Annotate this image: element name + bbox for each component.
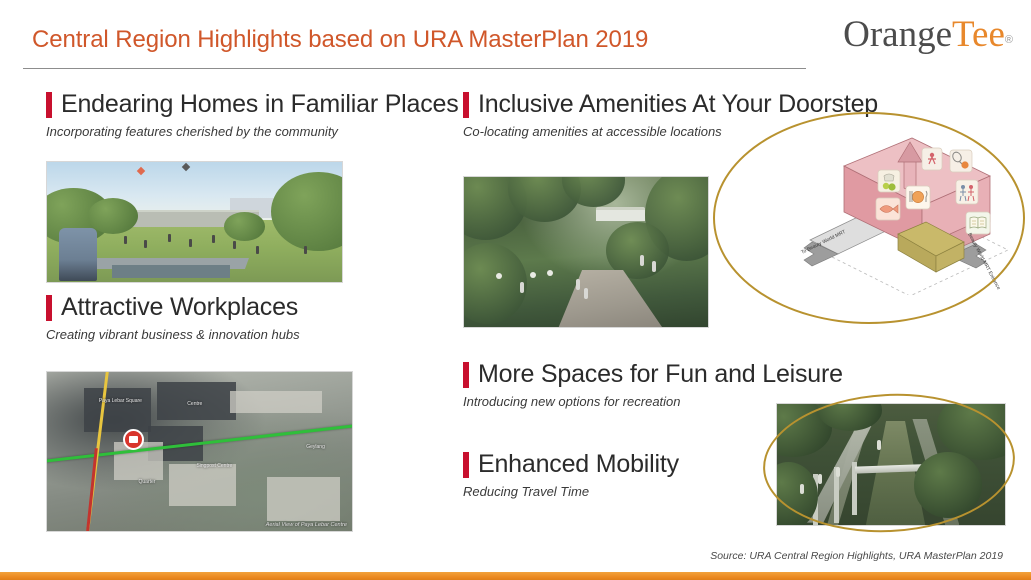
person-figure [576,279,580,290]
aerial-map-paya-lebar-image: Paya Lebar Square Centre Singpost Centre… [46,371,353,532]
bollard-light [530,272,536,278]
garden-park-photo-image [463,176,709,328]
bullet-bar-icon [463,362,469,388]
image-caption: Aerial View of Paya Lebar Centre [266,522,347,528]
isometric-diagram-svg: To Beauty World MRT Beauty World MRT Ent… [800,130,1022,295]
section-heading: Attractive Workplaces [46,293,300,322]
bollard-light [496,273,502,279]
logo-text-tee: Tee [952,14,1005,55]
slide-canvas: Central Region Highlights based on URA M… [0,0,1031,580]
person-figure [144,240,147,248]
logo-text-orange: Orange [843,14,952,55]
section-subtitle: Reducing Travel Time [463,484,679,499]
pavilion-building [596,207,645,221]
person-figure [800,484,804,494]
source-citation: Source: URA Central Region Highlights, U… [710,550,1003,562]
map-label: Quarter [139,480,156,486]
person-figure [818,474,822,484]
section-subtitle: Incorporating features cherished by the … [46,124,459,139]
person-figure [304,246,307,254]
section-endearing-homes: Endearing Homes in Familiar Places Incor… [46,90,459,139]
orangetee-logo: OrangeTee® [843,16,1013,53]
section-more-spaces: More Spaces for Fun and Leisure Introduc… [463,360,843,409]
person-figure [836,467,840,477]
section-heading: Enhanced Mobility [463,450,679,479]
water-feature [112,265,230,278]
eldercare-icon [956,180,978,204]
person-figure [189,239,192,247]
section-subtitle: Creating vibrant business & innovation h… [46,327,300,342]
canal-waterway-photo-image [776,403,1006,526]
map-label: Geylang [306,445,325,451]
section-enhanced-mobility: Enhanced Mobility Reducing Travel Time [463,450,679,499]
bullet-bar-icon [46,295,52,321]
integrated-amenities-isometric: To Beauty World MRT Beauty World MRT Ent… [800,130,1022,295]
building-block [230,391,322,413]
park-community-render-image [46,161,343,283]
section-title: Endearing Homes in Familiar Places [61,90,459,119]
bullet-bar-icon [463,452,469,478]
bottom-accent-bar [0,572,1031,580]
person-figure [877,440,881,450]
building-block [169,464,236,505]
person-figure [212,235,215,243]
bullet-bar-icon [46,92,52,118]
person-figure [233,241,236,249]
building-block [267,477,340,522]
building-block [84,388,151,433]
person-figure [652,261,656,272]
section-heading: Endearing Homes in Familiar Places [46,90,459,119]
map-label: Singpost Centre [196,464,232,470]
section-title: Attractive Workplaces [61,293,298,322]
tree-icon [914,452,982,517]
foreground-figures [59,228,97,281]
header-divider [23,68,806,69]
person-figure [168,234,171,242]
registered-trademark-icon: ® [1005,34,1013,46]
person-figure [520,282,524,293]
person-figure [584,288,588,299]
section-attractive-workplaces: Attractive Workplaces Creating vibrant b… [46,293,300,342]
section-title: Enhanced Mobility [478,450,679,479]
person-figure [256,246,259,254]
section-title: More Spaces for Fun and Leisure [478,360,843,389]
person-figure [124,236,127,244]
section-heading: More Spaces for Fun and Leisure [463,360,843,389]
person-figure [640,255,644,266]
section-heading: Inclusive Amenities At Your Doorstep [463,90,878,119]
map-label: Paya Lebar Square [99,399,142,405]
bollard-light [547,270,553,276]
bullet-bar-icon [463,92,469,118]
map-label: Centre [187,402,202,408]
section-title: Inclusive Amenities At Your Doorstep [478,90,878,119]
page-title: Central Region Highlights based on URA M… [32,26,648,54]
